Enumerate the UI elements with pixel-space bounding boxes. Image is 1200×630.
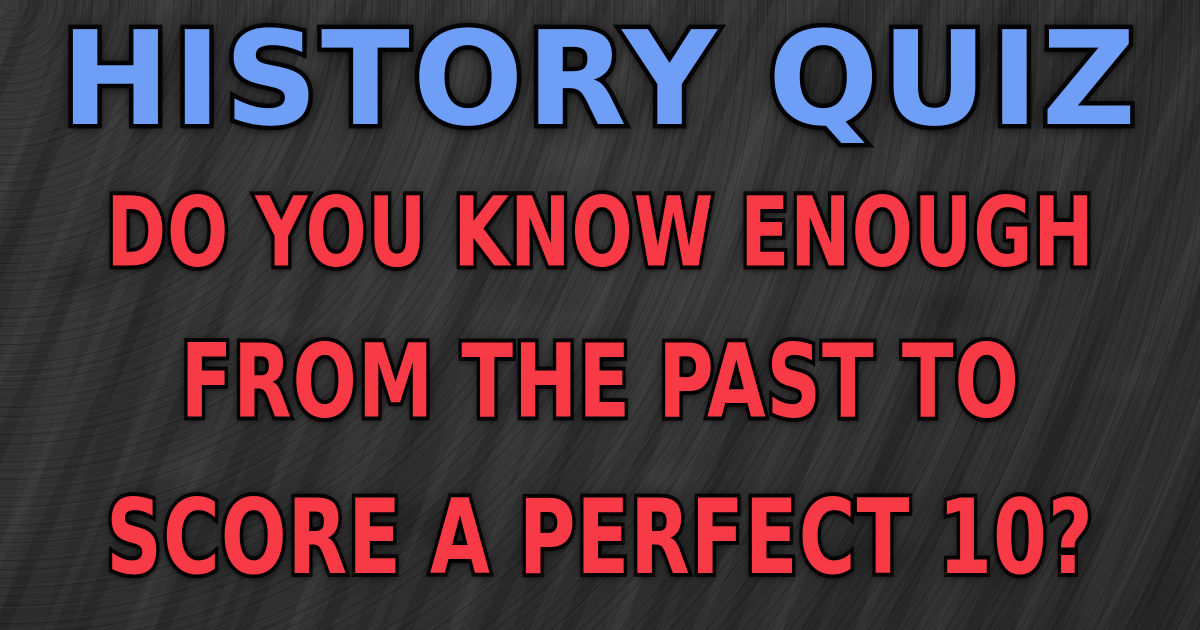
quiz-subtitle-line-1: DO YOU KNOW ENOUGH (106, 185, 1094, 282)
quiz-subtitle-line-3: SCORE A PERFECT 10? (106, 485, 1094, 589)
quiz-card: HISTORY QUIZ DO YOU KNOW ENOUGH FROM THE… (0, 0, 1200, 630)
quiz-subtitle-line-2: FROM THE PAST TO (180, 333, 1019, 434)
quiz-title: HISTORY QUIZ (61, 14, 1139, 144)
card-content: HISTORY QUIZ DO YOU KNOW ENOUGH FROM THE… (0, 0, 1200, 630)
